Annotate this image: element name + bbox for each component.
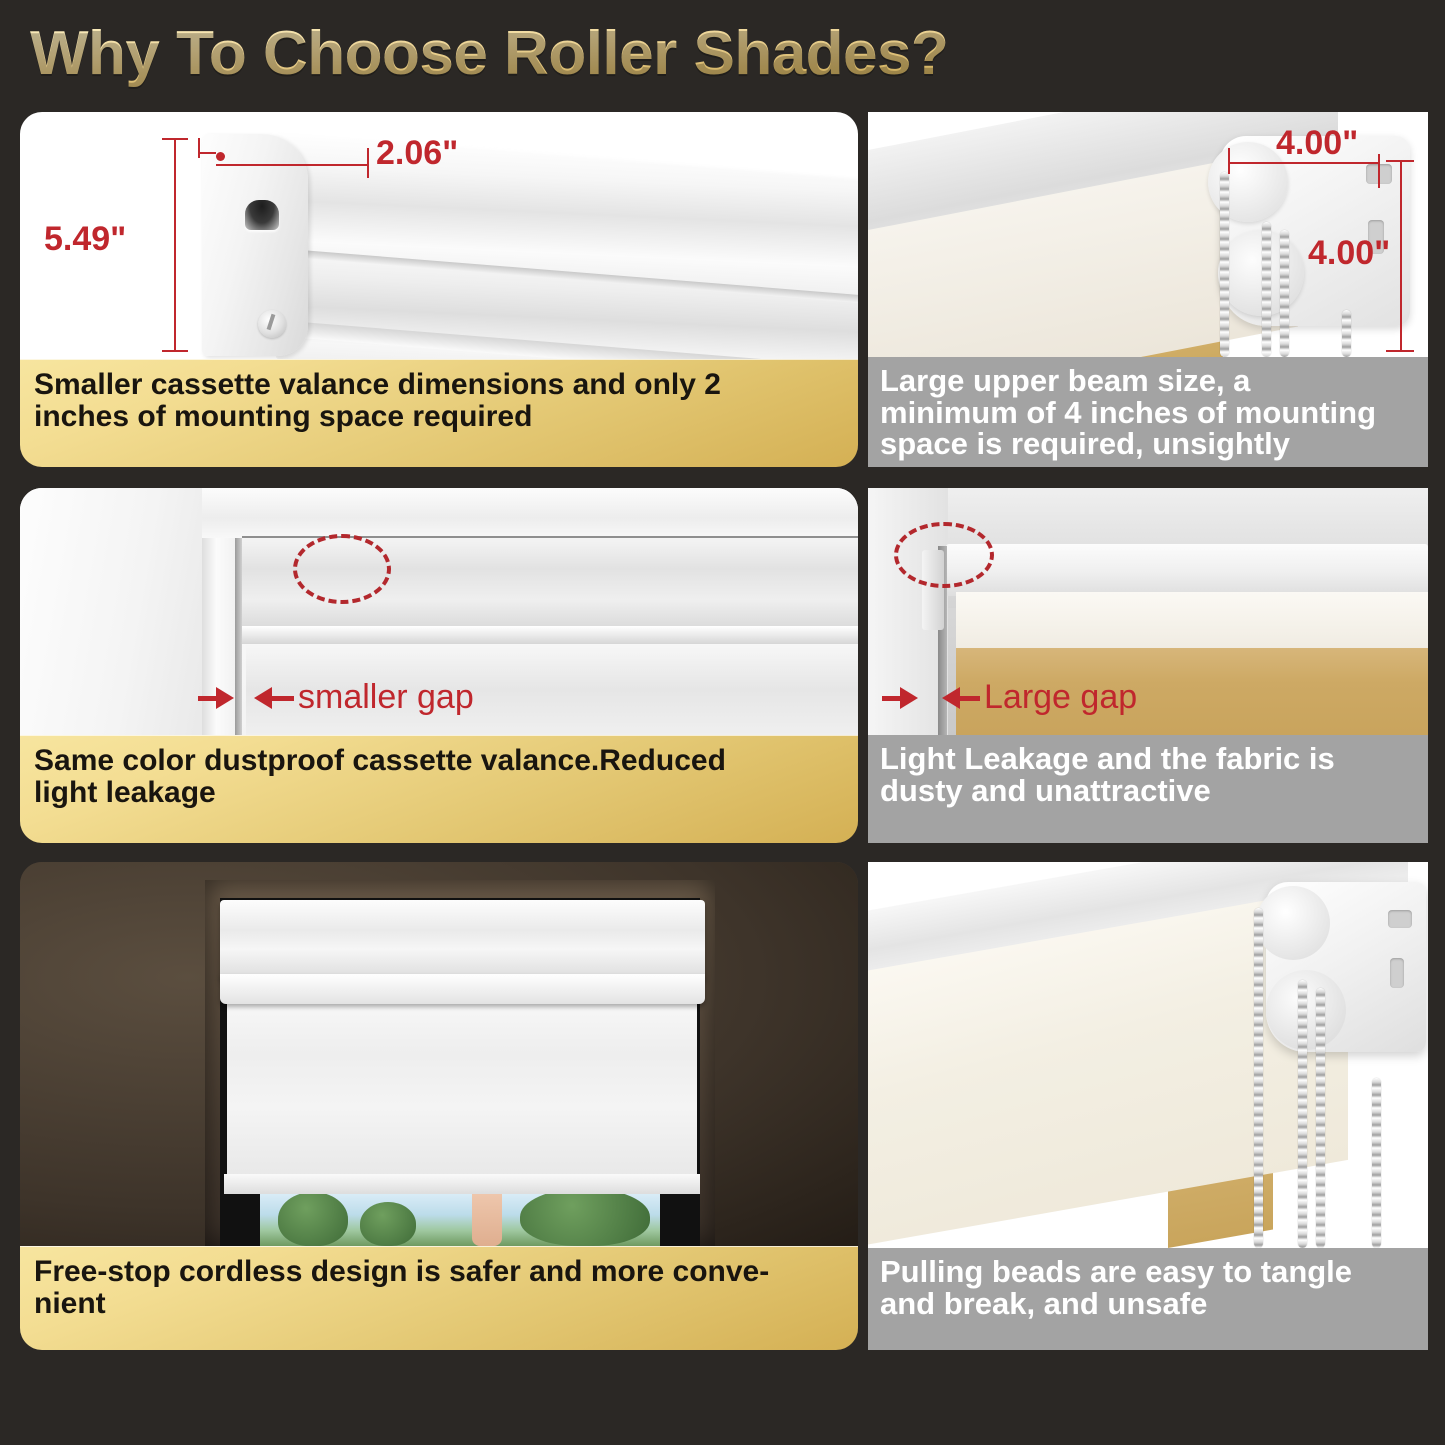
caption-good-row3: Free-stop cordless design is safer and m…	[20, 1246, 858, 1350]
arrow-stem	[882, 696, 900, 701]
valance-screw-icon	[258, 310, 286, 338]
dim-line-height	[1400, 160, 1402, 352]
bead-chain	[1262, 222, 1271, 357]
caption-good-row1: Smaller cassette valance dimensions and …	[20, 359, 858, 467]
photo-beaded-roller-shade	[868, 862, 1428, 1248]
roller-lobe-shape	[1256, 886, 1330, 960]
caption-bad-row3: Pulling beads are easy to tangle and bre…	[868, 1248, 1428, 1350]
photo-room-cordless-shade	[20, 862, 858, 1246]
cassette-valance-lip-shape	[220, 974, 705, 1004]
caption-line: light leakage	[34, 777, 726, 809]
comparison-grid: 2.06" 5.49" Smaller cassette valance dim…	[0, 0, 1445, 1445]
arrow-stem	[960, 696, 980, 701]
dim-tick-width-right	[1378, 154, 1380, 188]
caption-bad-row2: Light Leakage and the fabric is dusty an…	[868, 735, 1428, 843]
highlight-ellipse-icon	[894, 522, 994, 588]
dim-line-width	[216, 164, 369, 166]
bead-chain	[1254, 908, 1263, 1248]
panel-bad-large-gap: Large gap Light Leakage and the fabric i…	[868, 488, 1428, 843]
valance-slot-icon	[245, 200, 279, 230]
caption-line: dusty and unattractive	[880, 775, 1335, 807]
panel-good-valance-dimensions: 2.06" 5.49" Smaller cassette valance dim…	[20, 112, 858, 467]
dimension-label-height: 4.00"	[1308, 234, 1390, 273]
cassette-valance-shape	[220, 900, 705, 980]
caption-line: Light Leakage and the fabric is	[880, 743, 1335, 775]
headrail-shape	[946, 544, 1428, 596]
bead-chain	[1342, 310, 1351, 357]
tree-shape	[360, 1202, 416, 1246]
bracket-slot-icon	[1390, 958, 1404, 988]
caption-bad-row1: Large upper beam size, a minimum of 4 in…	[868, 357, 1428, 467]
caption-line: Smaller cassette valance dimensions and …	[34, 369, 721, 401]
window-head-shape	[202, 488, 858, 538]
tree-shape	[520, 1188, 650, 1246]
arrow-right-icon	[900, 687, 918, 709]
caption-line: Pulling beads are easy to tangle	[880, 1256, 1352, 1288]
fabric-white-shape	[956, 592, 1428, 650]
gap-label-smaller: smaller gap	[298, 678, 474, 717]
beam-roller-lobe2-shape	[1218, 230, 1304, 316]
shade-fabric-shape	[227, 1002, 697, 1178]
bead-chain	[1316, 988, 1325, 1248]
caption-line: minimum of 4 inches of mounting	[880, 397, 1376, 429]
valance-end-cap-shape	[202, 134, 308, 356]
panel-bad-large-beam: 4.00" 4.00" Large upper beam size, a min…	[868, 112, 1428, 467]
dim-tick-width-right	[367, 148, 369, 178]
bracket-slot-icon	[1388, 910, 1412, 928]
bead-chain	[1372, 1078, 1381, 1248]
caption-line: nient	[34, 1288, 769, 1320]
dim-anchor-dot	[216, 152, 225, 161]
dim-line-height	[174, 138, 176, 352]
panel-bad-pulling-beads: Pulling beads are easy to tangle and bre…	[868, 862, 1428, 1350]
arrow-stem	[272, 696, 294, 701]
photo-window-large-gap: Large gap	[868, 488, 1428, 735]
arrow-right-icon	[216, 687, 234, 709]
panel-good-cordless: Free-stop cordless design is safer and m…	[20, 862, 858, 1350]
caption-line: Free-stop cordless design is safer and m…	[34, 1256, 769, 1288]
caption-line: inches of mounting space required	[34, 401, 721, 433]
caption-line: and break, and unsafe	[880, 1288, 1352, 1320]
photo-window-smaller-gap: smaller gap	[20, 488, 858, 735]
bead-chain	[1220, 172, 1229, 357]
caption-good-row2: Same color dustproof cassette valance.Re…	[20, 735, 858, 843]
gap-strip-shape	[235, 538, 242, 735]
caption-line: Same color dustproof cassette valance.Re…	[34, 745, 726, 777]
dimension-label-height: 5.49"	[44, 220, 126, 259]
dim-line-width-left	[198, 152, 216, 154]
dim-tick-height-top	[162, 138, 188, 140]
window-jamb-shape	[20, 488, 205, 735]
arrow-left-icon	[942, 687, 960, 709]
caption-line: Large upper beam size, a	[880, 365, 1376, 397]
arrow-left-icon	[254, 687, 272, 709]
gap-label-large: Large gap	[984, 678, 1137, 717]
photo-cassette-valance: 2.06" 5.49"	[20, 112, 858, 367]
dim-tick-height-bottom	[1386, 350, 1414, 352]
dim-tick-height-top	[1386, 160, 1414, 162]
dimension-label-width: 2.06"	[376, 134, 458, 173]
bead-chain	[1280, 230, 1289, 357]
infographic-page: Why To Choose Roller Shades?	[0, 0, 1445, 1445]
arrow-stem	[198, 696, 216, 701]
highlight-ellipse-icon	[293, 534, 391, 604]
caption-line: space is required, unsightly	[880, 428, 1376, 460]
shade-valance-lip-shape	[242, 626, 858, 644]
dimension-label-width: 4.00"	[1276, 124, 1358, 163]
shade-bottom-rail-shape	[224, 1174, 700, 1194]
tree-shape	[278, 1192, 348, 1246]
panel-good-smaller-gap: smaller gap Same color dustproof cassett…	[20, 488, 858, 843]
photo-large-upper-beam: 4.00" 4.00"	[868, 112, 1428, 357]
dim-tick-width-left	[198, 138, 200, 158]
dim-tick-width-left	[1228, 148, 1230, 174]
dim-tick-height-bottom	[162, 350, 188, 352]
bead-chain	[1298, 980, 1307, 1248]
